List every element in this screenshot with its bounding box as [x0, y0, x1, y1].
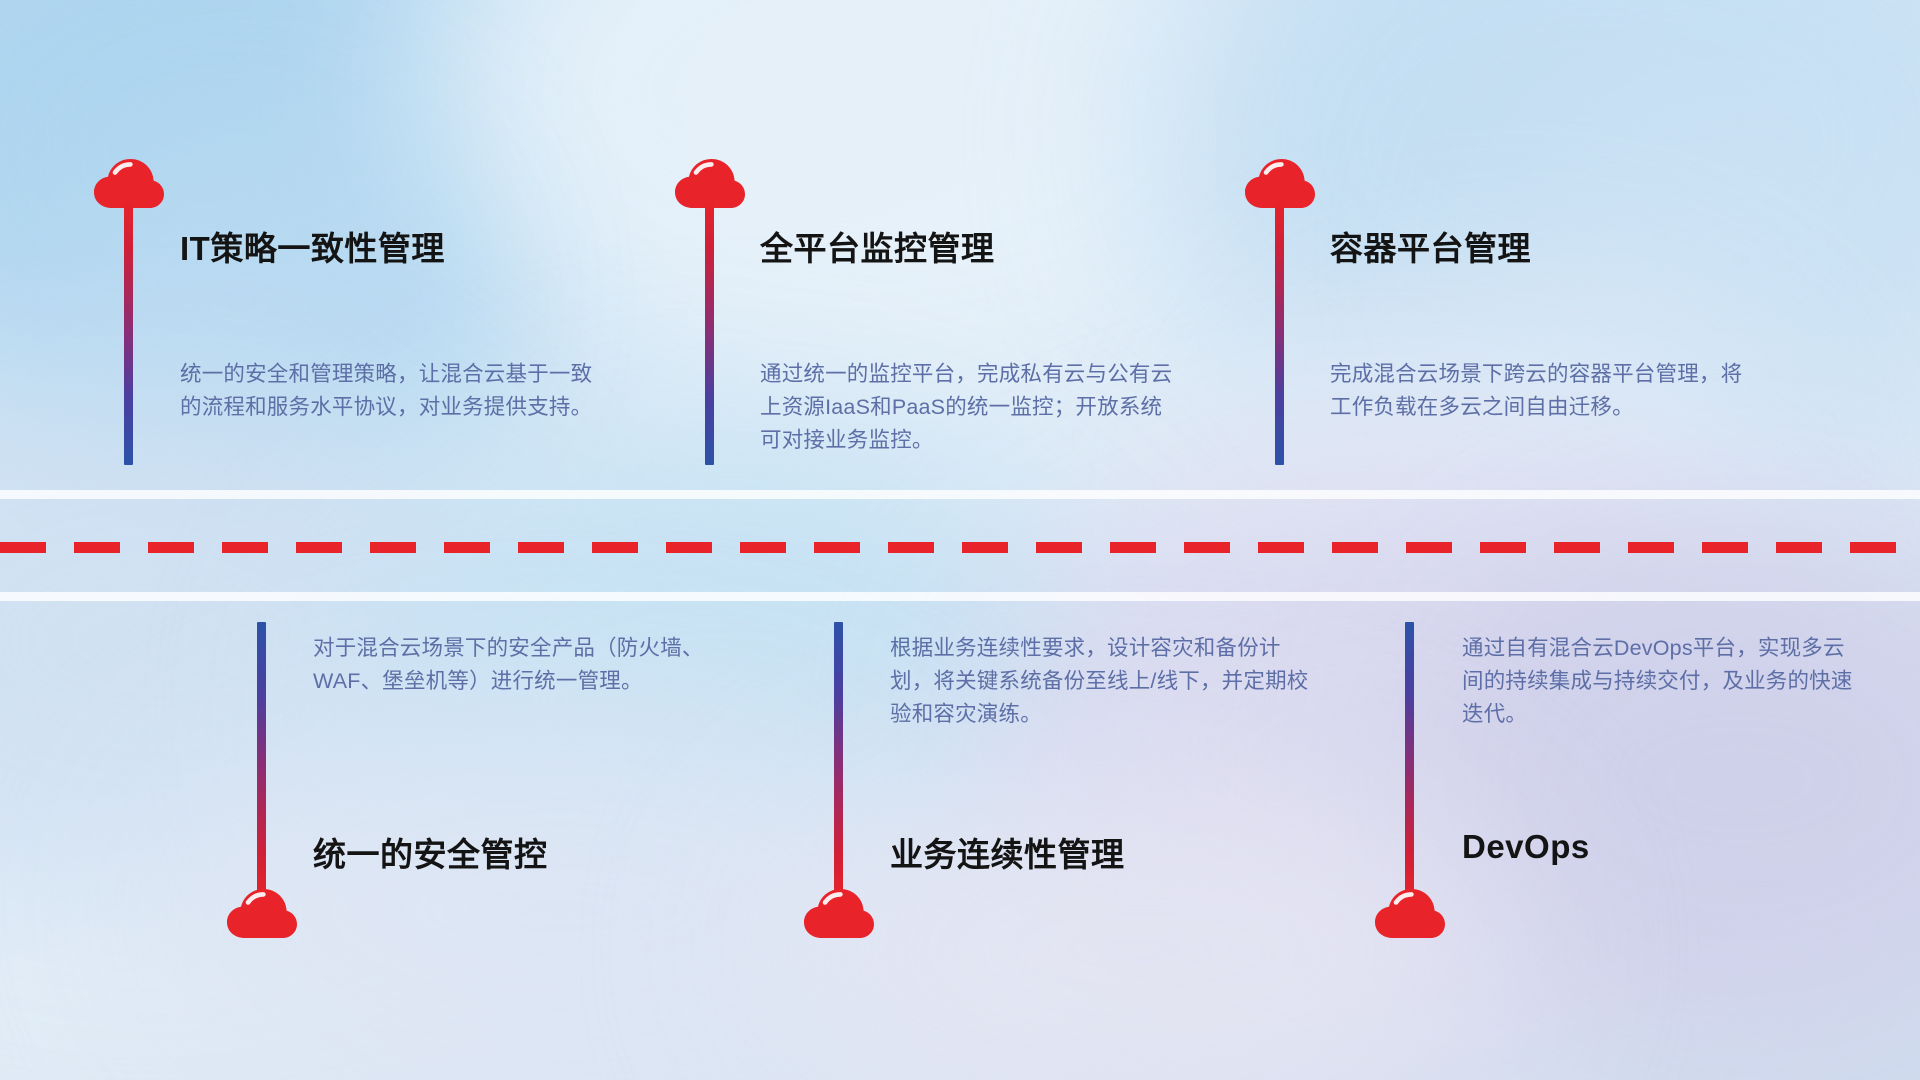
- bottom-item-3-body: 通过自有混合云DevOps平台，实现多云间的持续集成与持续交付，及业务的快速迭代…: [1462, 632, 1862, 731]
- bottom-item-2-title: 业务连续性管理: [890, 828, 1125, 876]
- divider-white-line: [0, 490, 1920, 499]
- top-item-1-title: IT策略一致性管理: [180, 222, 445, 270]
- divider-red-dashes: [0, 542, 1920, 553]
- cloud-icon: [1374, 888, 1446, 940]
- top-item-3-body: 完成混合云场景下跨云的容器平台管理，将工作负载在多云之间自由迁移。: [1330, 358, 1760, 424]
- bottom-item-2-body: 根据业务连续性要求，设计容灾和备份计划，将关键系统备份至线上/线下，并定期校验和…: [890, 632, 1310, 731]
- top-item-2-title: 全平台监控管理: [760, 222, 995, 270]
- timeline-stem: [124, 200, 133, 465]
- divider-white-line: [0, 592, 1920, 601]
- divider-rule-bottom: [0, 592, 1920, 601]
- divider-dashed-line: [0, 542, 1920, 553]
- timeline-stem: [1405, 622, 1414, 902]
- top-item-3-title: 容器平台管理: [1330, 222, 1531, 270]
- top-item-2-body: 通过统一的监控平台，完成私有云与公有云上资源IaaS和PaaS的统一监控；开放系…: [760, 358, 1180, 457]
- divider-rule-top: [0, 490, 1920, 499]
- bottom-item-3-title: DevOps: [1462, 828, 1590, 866]
- timeline-stem: [705, 200, 714, 465]
- timeline-stem: [834, 622, 843, 902]
- bottom-item-1-body: 对于混合云场景下的安全产品（防火墙、WAF、堡垒机等）进行统一管理。: [313, 632, 733, 698]
- cloud-icon: [803, 888, 875, 940]
- top-item-1-body: 统一的安全和管理策略，让混合云基于一致的流程和服务水平协议，对业务提供支持。: [180, 358, 600, 424]
- cloud-icon: [226, 888, 298, 940]
- timeline-stem: [1275, 200, 1284, 465]
- bottom-item-1-title: 统一的安全管控: [313, 828, 548, 876]
- timeline-stem: [257, 622, 266, 902]
